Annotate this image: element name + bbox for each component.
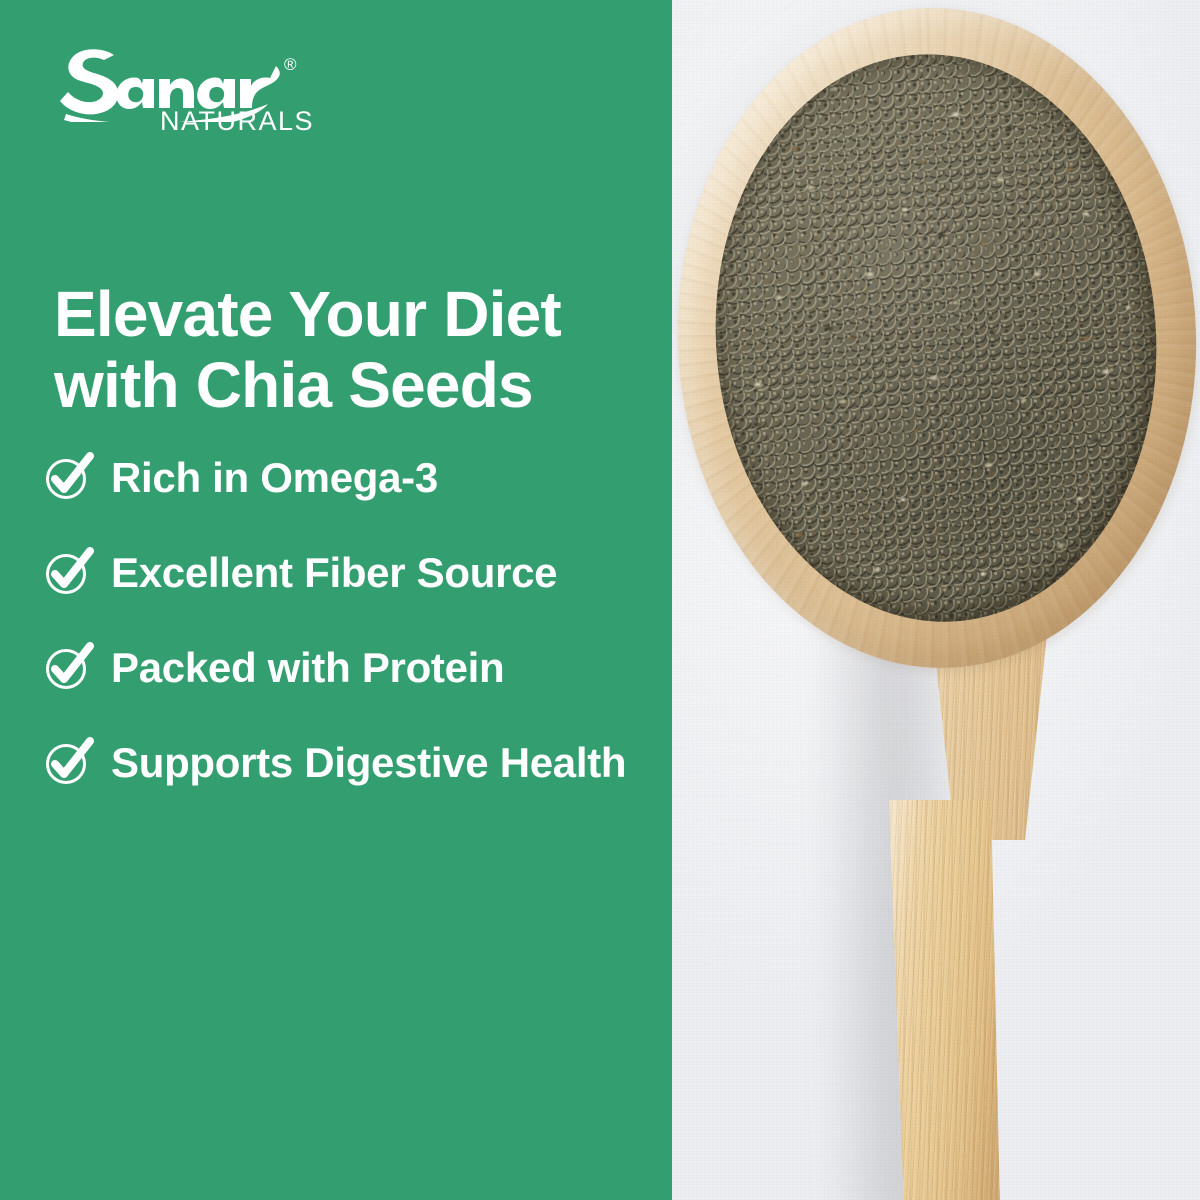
check-circle-icon (42, 641, 94, 693)
product-photo-pane (672, 0, 1200, 1200)
benefit-label: Packed with Protein (111, 642, 504, 693)
headline-line-1: Elevate Your Diet (54, 278, 561, 350)
list-item: Supports Digestive Health (42, 737, 662, 788)
list-item: Excellent Fiber Source (42, 547, 662, 598)
benefits-list: Rich in Omega-3 Excellent Fiber Source P… (42, 452, 662, 788)
check-circle-icon (42, 546, 94, 598)
headline-line-2: with Chia Seeds (54, 349, 533, 421)
product-benefits-infographic: ® NATURALS Elevate Your Diet with Chia S… (0, 0, 1200, 1200)
green-content-pane: ® NATURALS Elevate Your Diet with Chia S… (0, 0, 672, 1200)
benefit-label: Rich in Omega-3 (111, 452, 438, 503)
benefit-label: Supports Digestive Health (111, 737, 626, 788)
list-item: Packed with Protein (42, 642, 662, 693)
benefit-label: Excellent Fiber Source (111, 547, 557, 598)
check-circle-icon (42, 736, 94, 788)
check-circle-icon (42, 451, 94, 503)
registered-trademark-icon: ® (284, 56, 297, 73)
brand-subtitle: NATURALS (160, 106, 314, 137)
list-item: Rich in Omega-3 (42, 452, 662, 503)
page-title: Elevate Your Diet with Chia Seeds (54, 279, 654, 421)
brand-logo: ® NATURALS (52, 44, 302, 144)
